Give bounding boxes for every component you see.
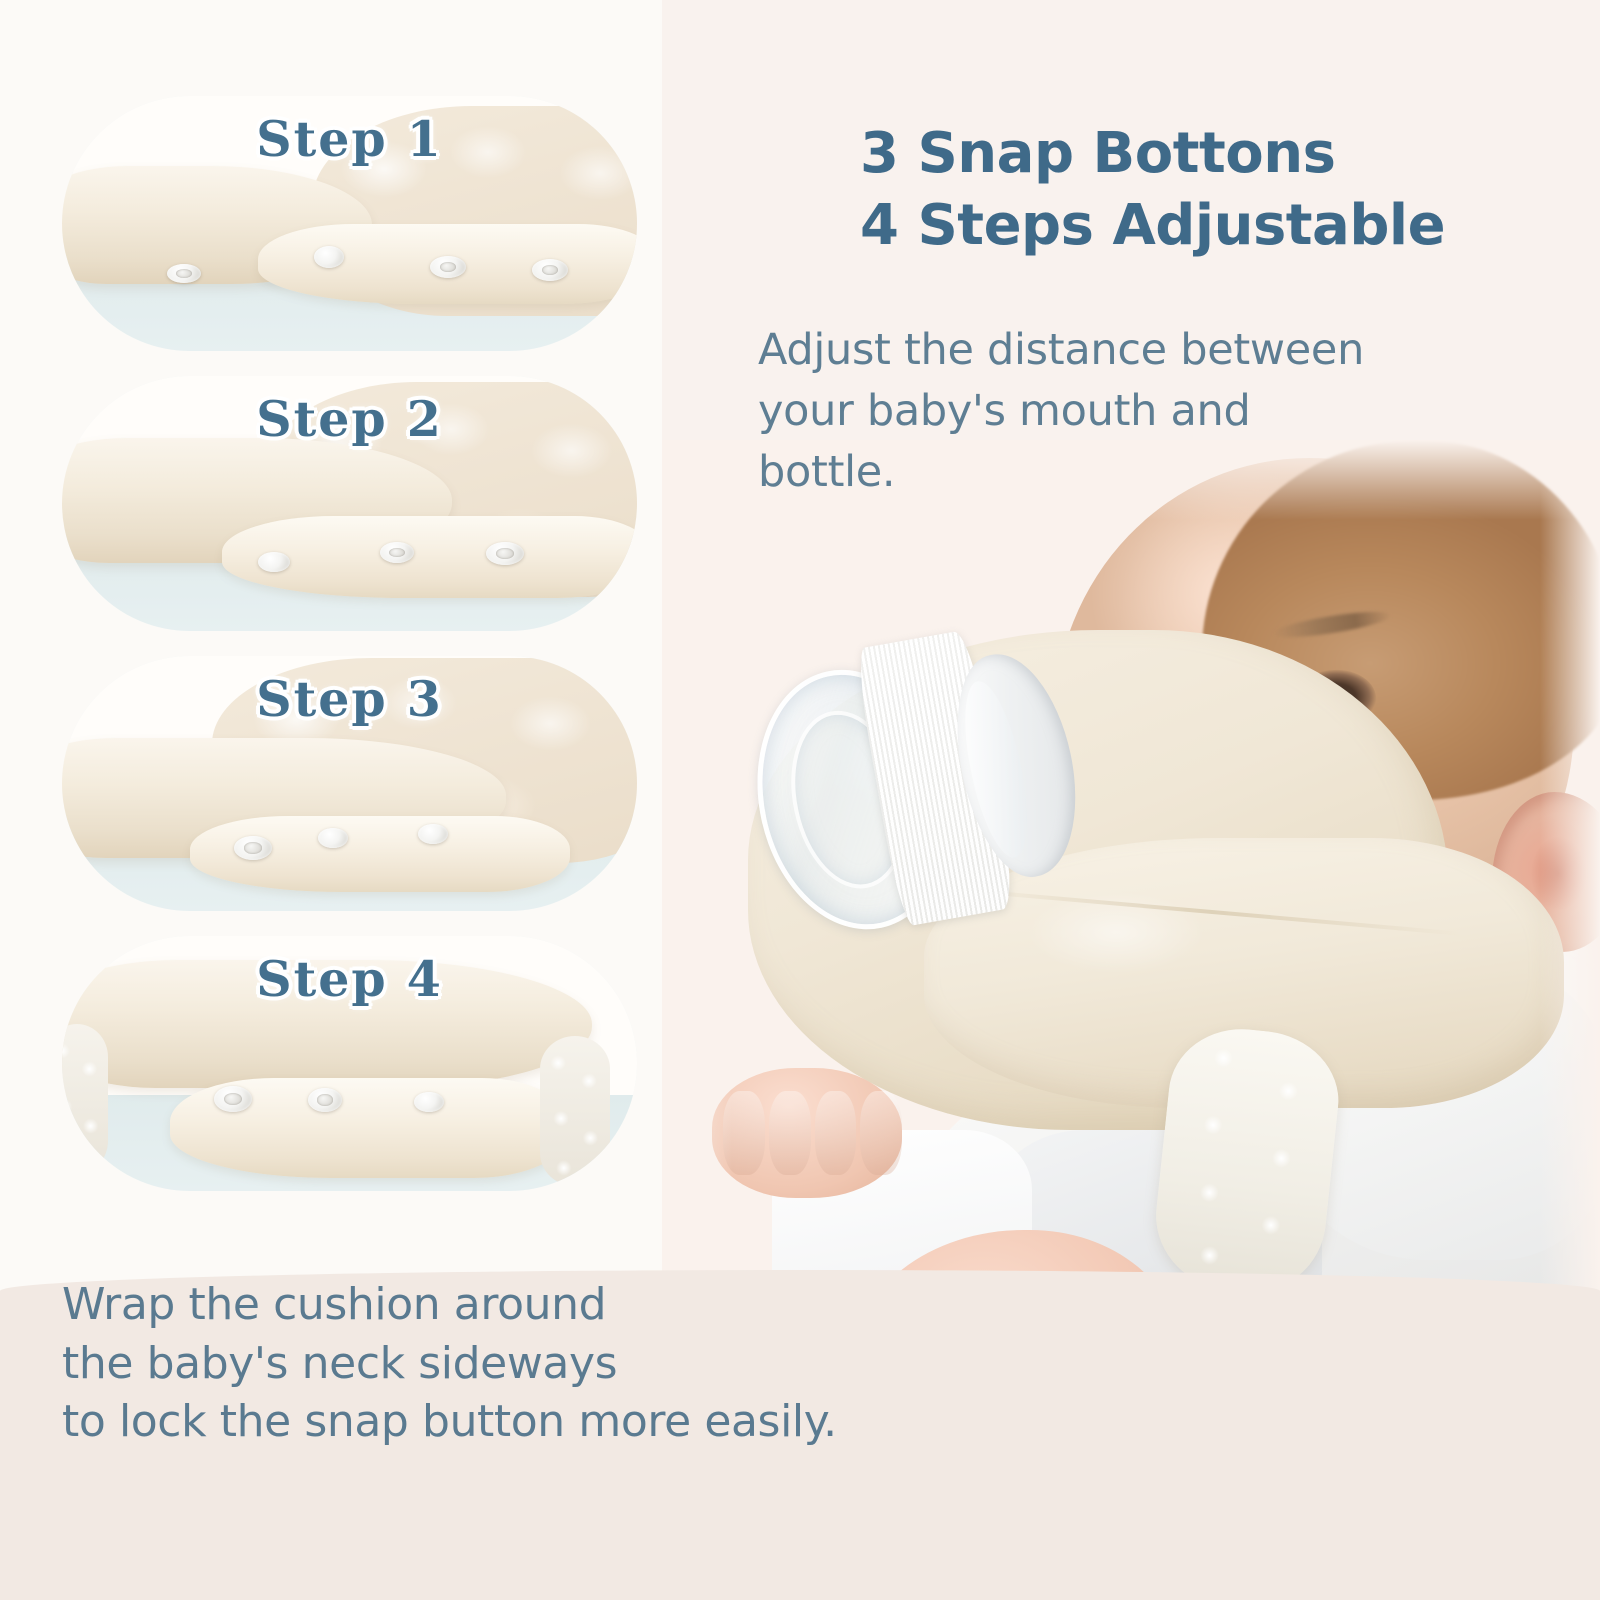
baby-hand-upper <box>712 1068 902 1198</box>
step-2-photo <box>62 376 637 631</box>
snap-button <box>532 259 568 281</box>
bobble-fabric-right <box>540 1036 610 1186</box>
caption-line-2: the baby's neck sideways <box>62 1335 962 1394</box>
snap-button <box>418 824 448 844</box>
subheadline: Adjust the distance between your baby's … <box>758 320 1378 503</box>
step-1-photo <box>62 96 637 351</box>
step-4-photo <box>62 936 637 1191</box>
step-panel-3[interactable]: Step 3 <box>62 656 637 911</box>
step-panel-2[interactable]: Step 2 <box>62 376 637 631</box>
caption-line-3: to lock the snap button more easily. <box>62 1393 962 1452</box>
snap-button <box>214 1086 252 1112</box>
snap-button <box>258 552 290 572</box>
bottom-caption: Wrap the cushion around the baby's neck … <box>62 1276 962 1452</box>
headline: 3 Snap Bottons 4 Steps Adjustable <box>860 118 1560 262</box>
snap-button <box>430 256 466 278</box>
bobble-fabric-left <box>62 1024 108 1174</box>
step-panel-1[interactable]: Step 1 <box>62 96 637 351</box>
headline-line-1: 3 Snap Bottons <box>860 121 1335 186</box>
cushion-strap-upper-4 <box>62 960 592 1088</box>
step-sequence: Step 1 Step 2 <box>62 96 662 1216</box>
snap-button <box>318 828 348 848</box>
infographic-canvas: Step 1 Step 2 <box>0 0 1600 1600</box>
snap-button <box>234 836 272 860</box>
snap-button <box>380 542 414 563</box>
step-panel-4[interactable]: Step 4 <box>62 936 637 1191</box>
snap-button <box>414 1092 444 1112</box>
snap-button <box>308 1088 342 1112</box>
snap-button <box>167 264 201 283</box>
caption-line-1: Wrap the cushion around <box>62 1276 962 1335</box>
snap-button <box>314 246 344 268</box>
snap-button <box>486 542 524 565</box>
step-3-photo <box>62 656 637 911</box>
headline-line-2: 4 Steps Adjustable <box>860 190 1560 262</box>
